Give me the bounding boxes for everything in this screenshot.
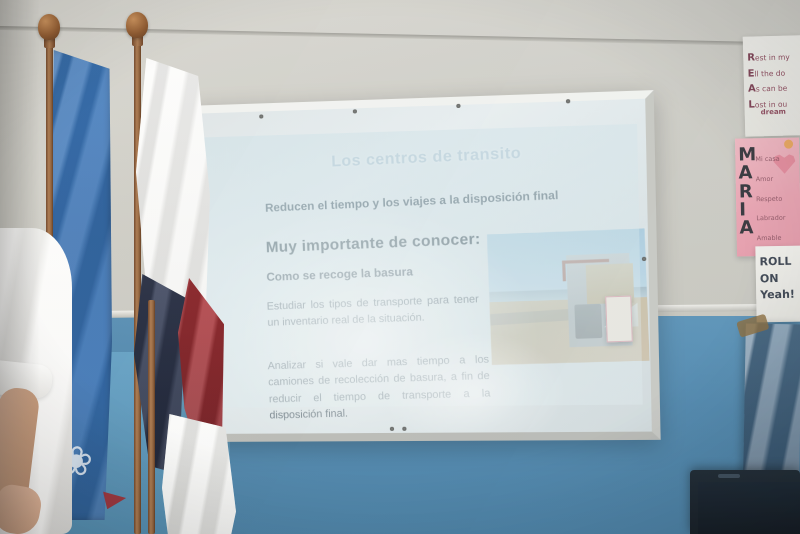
maria-word-3: Respeto	[756, 189, 798, 210]
roll-line-2: ON	[760, 270, 795, 287]
poster-fragment-left	[605, 296, 633, 343]
maria-word-4: Labrador	[756, 209, 798, 230]
roll-poster-lines: ROLL ON Yeah!	[759, 254, 795, 304]
frame-screw-5	[642, 257, 646, 261]
frame-screw-7	[402, 427, 406, 431]
monitor-screen	[698, 482, 800, 534]
orange-dot-icon	[784, 140, 793, 149]
rest-poster-footer: dream	[761, 108, 786, 117]
flagpole-right-lower	[148, 300, 155, 534]
person-in-white-shirt	[0, 228, 86, 534]
flagpole-left-finial	[38, 14, 60, 40]
maria-acrostic-poster: M A R I A Mi casa Amor Respeto Labrador …	[735, 137, 800, 256]
roll-on-yeah-poster: ROLL ON Yeah!	[755, 246, 800, 323]
maria-word-2: Amor	[756, 169, 798, 190]
rest-poster-lines: Rest in my Ell the do As can be Lost in …	[747, 49, 800, 112]
dark-monitor	[690, 470, 800, 534]
maria-word-1: Mi casa	[755, 149, 797, 170]
classroom-photo-scene: Los centros de transito Reducen el tiemp…	[0, 0, 800, 534]
monitor-bezel-tab	[718, 474, 740, 478]
roll-line-1: ROLL	[759, 254, 794, 271]
maria-acrostic-words: Mi casa Amor Respeto Labrador Amable	[755, 149, 799, 249]
flagpole-right-finial	[126, 12, 148, 38]
rest-poster-line-2: Ell the do	[747, 65, 800, 82]
maria-letter-5: A	[739, 220, 757, 239]
rest-line-2-text: ll the do	[754, 68, 785, 78]
rest-poster-line-1: Rest in my	[747, 49, 800, 66]
panama-flag	[126, 48, 246, 534]
whiteboard-frame	[183, 90, 661, 442]
roll-line-3: Yeah!	[760, 287, 795, 304]
panama-flag-white-lower	[162, 414, 236, 534]
rest-line-3-text: s can be	[756, 84, 788, 94]
frame-screw-6	[390, 427, 394, 431]
rest-poster-line-3: As can be	[748, 80, 800, 97]
rest-in-my-dream-poster: Rest in my Ell the do As can be Lost in …	[743, 35, 800, 136]
rest-line-1-text: est in my	[755, 53, 790, 63]
whiteboard-projection-screen: Los centros de transito Reducen el tiemp…	[183, 90, 661, 442]
